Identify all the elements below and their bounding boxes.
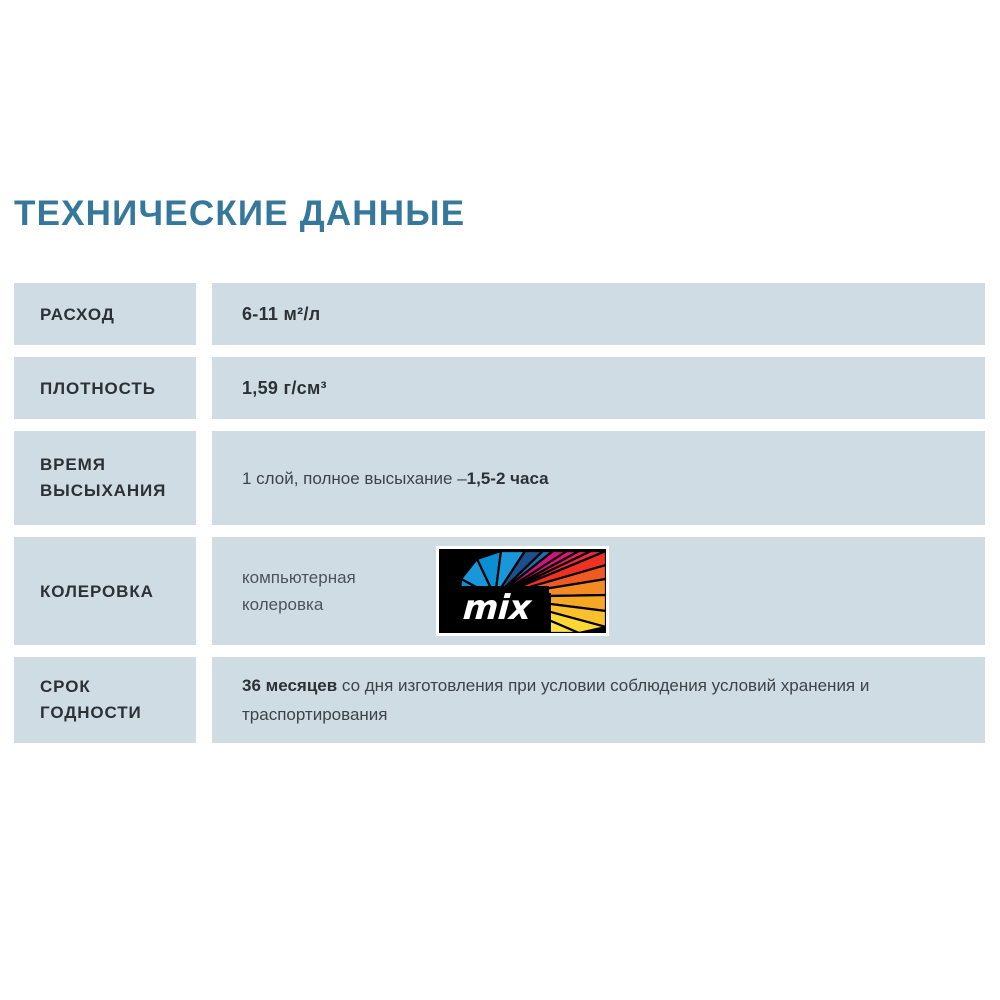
specifications-table: РАСХОД 6-11 м²/л ПЛОТНОСТЬ 1,59 г/см³ ВР… xyxy=(14,283,985,743)
spec-label-drying-time-line1: ВРЕМЯ xyxy=(40,452,166,478)
spec-label-drying-time: ВРЕМЯ ВЫСЫХАНИЯ xyxy=(14,431,196,525)
mix-wordmark-text: mix xyxy=(462,591,532,625)
mix-wordmark: mix xyxy=(445,586,549,630)
spec-label-tinting: КОЛЕРОВКА xyxy=(14,537,196,645)
tinting-text-line1: компьютерная xyxy=(242,564,432,591)
page-title: ТЕХНИЧЕСКИЕ ДАННЫЕ xyxy=(14,193,465,235)
tinting-text: компьютерная колеровка xyxy=(242,564,432,618)
shelf-life-accent: 36 месяцев xyxy=(242,676,337,695)
table-row: СРОК ГОДНОСТИ 36 месяцев со дня изготовл… xyxy=(14,657,985,743)
spec-value-consumption: 6-11 м²/л xyxy=(212,283,985,345)
spec-value-drying-time: 1 слой, полное высыхание – 1,5-2 часа xyxy=(212,431,985,525)
shelf-life-rest: со дня изготовления при условии соблюден… xyxy=(242,676,869,724)
table-row: ВРЕМЯ ВЫСЫХАНИЯ 1 слой, полное высыхание… xyxy=(14,431,985,525)
table-row: ПЛОТНОСТЬ 1,59 г/см³ xyxy=(14,357,985,419)
drying-time-accent: 1,5-2 часа xyxy=(467,464,549,493)
spec-value-tinting: компьютерная колеровка xyxy=(212,537,985,645)
spec-value-density: 1,59 г/см³ xyxy=(212,357,985,419)
mix-logo: mix xyxy=(436,546,609,636)
spec-label-shelf-life-line2: ГОДНОСТИ xyxy=(40,700,142,726)
spec-value-shelf-life: 36 месяцев со дня изготовления при услов… xyxy=(212,657,985,743)
technical-data-page: ТЕХНИЧЕСКИЕ ДАННЫЕ РАСХОД 6-11 м²/л ПЛОТ… xyxy=(0,0,1000,1000)
spec-label-density: ПЛОТНОСТЬ xyxy=(14,357,196,419)
table-row: КОЛЕРОВКА компьютерная колеровка xyxy=(14,537,985,645)
spec-label-shelf-life: СРОК ГОДНОСТИ xyxy=(14,657,196,743)
spec-label-drying-time-line2: ВЫСЫХАНИЯ xyxy=(40,478,166,504)
spec-label-shelf-life-line1: СРОК xyxy=(40,674,142,700)
drying-time-prefix: 1 слой, полное высыхание – xyxy=(242,464,467,493)
table-row: РАСХОД 6-11 м²/л xyxy=(14,283,985,345)
spec-label-consumption: РАСХОД xyxy=(14,283,196,345)
tinting-text-line2: колеровка xyxy=(242,591,432,618)
